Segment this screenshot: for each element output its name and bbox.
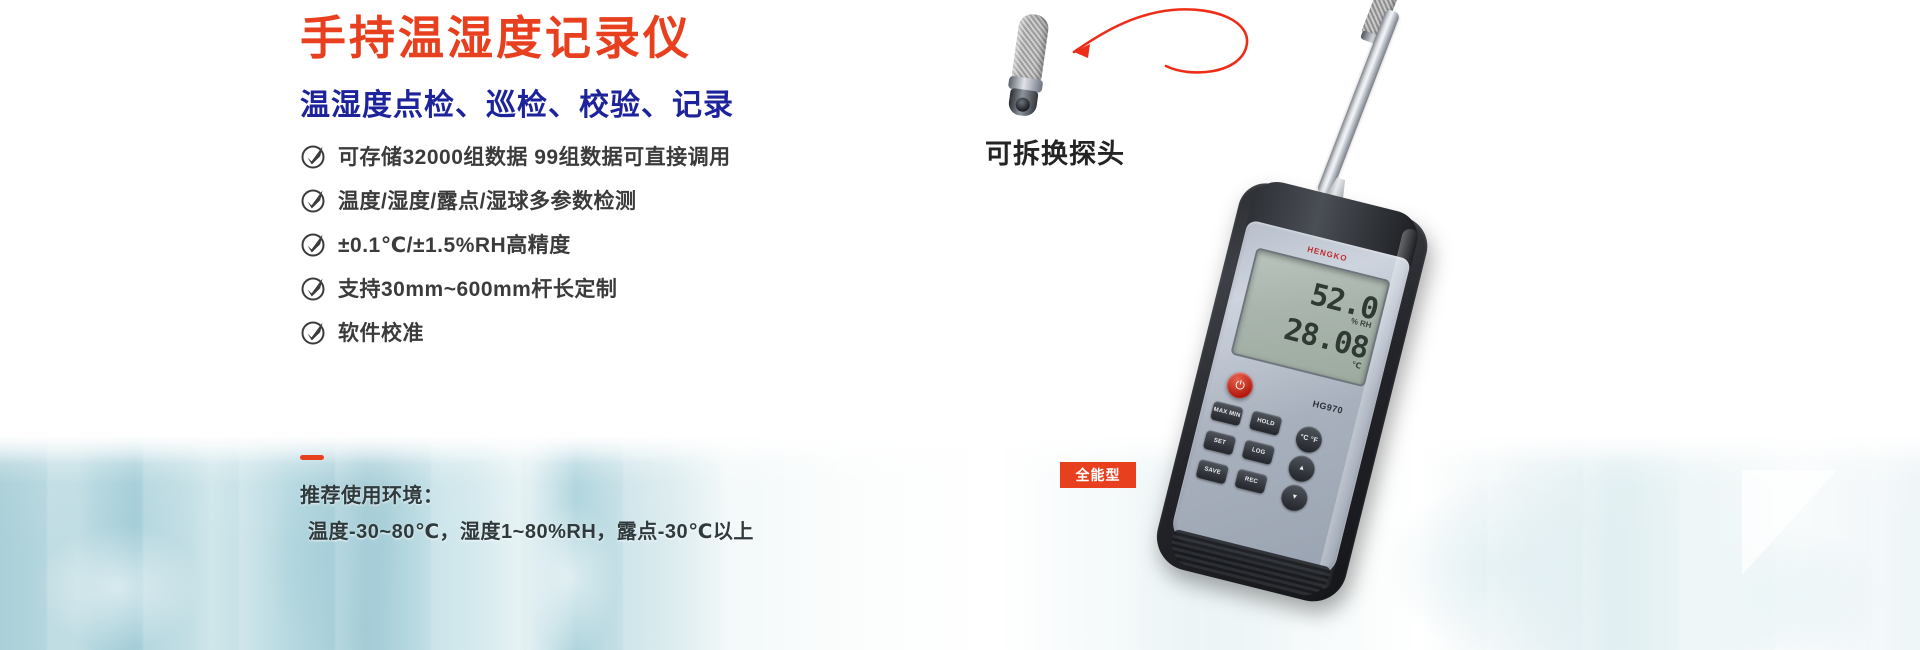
list-item-label: ±0.1℃/±1.5%RH高精度: [338, 229, 571, 259]
product-banner: 手持温湿度记录仪 温湿度点检、巡检、校验、记录 可存储32000组数据 99组数…: [0, 0, 1920, 650]
check-circle-icon: [300, 318, 338, 346]
check-circle-icon: [300, 186, 338, 214]
keypad-button[interactable]: ▲: [1286, 453, 1318, 485]
keypad-button[interactable]: REC: [1234, 468, 1268, 494]
keypad-button[interactable]: SAVE: [1195, 459, 1229, 485]
list-item-label: 软件校准: [338, 317, 424, 347]
keypad-button[interactable]: SET: [1203, 430, 1237, 456]
list-item-label: 支持30mm~600mm杆长定制: [338, 273, 617, 303]
recommendation-heading: 推荐使用环境：: [300, 479, 444, 508]
check-circle-icon: [300, 230, 338, 258]
list-item-label: 温度/湿度/露点/湿球多参数检测: [338, 185, 637, 215]
status-badge: 全能型: [1060, 462, 1136, 488]
keypad-button[interactable]: ▼: [1279, 482, 1311, 514]
list-item: 软件校准: [300, 310, 1200, 354]
keypad-button[interactable]: LOG: [1242, 439, 1276, 465]
list-item-label: 可存储32000组数据 99组数据可直接调用: [338, 141, 731, 171]
list-item: ±0.1℃/±1.5%RH高精度: [300, 222, 1200, 266]
red-dash-divider: [300, 455, 324, 460]
recommendation-detail: 温度-30~80℃，湿度1~80%RH，露点-30℃以上: [308, 515, 754, 544]
lcd-temperature-unit: ℃: [1351, 360, 1363, 371]
page-title: 手持温湿度记录仪: [300, 14, 692, 62]
keypad-button[interactable]: °C °F: [1293, 424, 1325, 456]
probe-callout-label: 可拆换探头: [985, 132, 1125, 171]
page-subtitle: 温湿度点检、巡检、校验、记录: [300, 80, 734, 124]
check-circle-icon: [300, 142, 338, 170]
list-item: 温度/湿度/露点/湿球多参数检测: [300, 178, 1200, 222]
check-circle-icon: [300, 274, 338, 302]
background-lab-photo: [0, 437, 1920, 650]
list-item: 支持30mm~600mm杆长定制: [300, 266, 1200, 310]
